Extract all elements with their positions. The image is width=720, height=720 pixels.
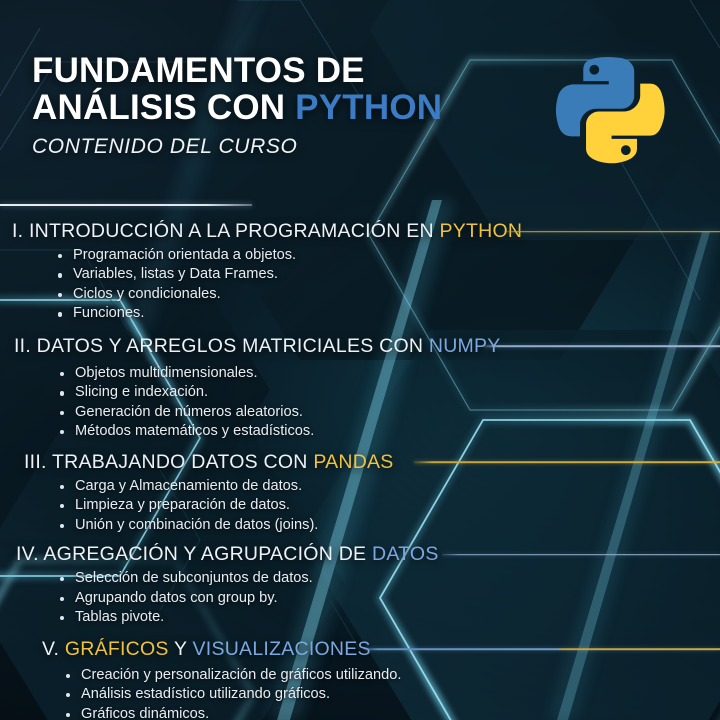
section-iii-heading: III. TRABAJANDO DATOS CON PANDAS	[24, 451, 720, 474]
section-v-numeral: V.	[42, 638, 65, 660]
section-v-heading-conjunction: Y	[169, 638, 193, 660]
section-iii-heading-text: III. TRABAJANDO DATOS CON	[24, 451, 313, 473]
section-ii-heading: II. DATOS Y ARREGLOS MATRICIALES CON NUM…	[14, 335, 720, 358]
section-iv-heading-text: IV. AGREGACIÓN Y AGRUPACIÓN DE	[16, 543, 372, 565]
section-iv-heading: IV. AGREGACIÓN Y AGRUPACIÓN DE DATOS	[16, 543, 720, 566]
section-ii: II. DATOS Y ARREGLOS MATRICIALES CON NUM…	[14, 335, 720, 442]
section-i: I. INTRODUCCIÓN A LA PROGRAMACIÓN EN PYT…	[12, 220, 720, 324]
section-v-bullets: Creación y personalización de gráficos u…	[64, 666, 720, 720]
page-title-line-1: FUNDAMENTOS DE	[32, 52, 502, 89]
section-iv: IV. AGREGACIÓN Y AGRUPACIÓN DE DATOS Sel…	[16, 543, 720, 627]
list-item: Creación y personalización de gráficos u…	[64, 666, 720, 685]
list-item: Selección de subconjuntos de datos.	[58, 569, 720, 588]
list-item: Objetos multidimensionales.	[58, 364, 720, 383]
section-ii-heading-text: II. DATOS Y ARREGLOS MATRICIALES CON	[14, 335, 429, 357]
section-v-keyword-graficos: GRÁFICOS	[65, 638, 169, 660]
page-title-line-2: ANÁLISIS CON PYTHON	[32, 89, 502, 126]
list-item: Slicing e indexación.	[58, 383, 720, 402]
section-v-rule	[364, 648, 720, 650]
section-v: V. GRÁFICOS Y VISUALIZACIONES Creación y…	[42, 638, 720, 720]
list-item: Unión y combinación de datos (joins).	[58, 516, 720, 535]
list-item: Carga y Almacenamiento de datos.	[58, 477, 720, 496]
page-title-line-2-text: ANÁLISIS CON	[32, 88, 295, 127]
poster-header: FUNDAMENTOS DE ANÁLISIS CON PYTHON CONTE…	[32, 52, 502, 159]
section-i-heading-text: I. INTRODUCCIÓN A LA PROGRAMACIÓN EN	[12, 220, 439, 242]
section-iv-rule	[442, 554, 720, 556]
list-item: Generación de números aleatorios.	[58, 403, 720, 422]
section-iii-keyword-pandas: PANDAS	[313, 451, 393, 473]
list-item: Limpieza y preparación de datos.	[58, 496, 720, 515]
section-ii-rule	[484, 346, 720, 348]
list-item: Análisis estadístico utilizando gráficos…	[64, 685, 720, 704]
list-item: Programación orientada a objetos.	[56, 246, 720, 265]
course-content: I. INTRODUCCIÓN A LA PROGRAMACIÓN EN PYT…	[0, 220, 720, 720]
list-item: Agrupando datos con group by.	[58, 589, 720, 608]
section-iii-bullets: Carga y Almacenamiento de datos. Limpiez…	[58, 477, 720, 535]
list-item: Ciclos y condicionales.	[56, 285, 720, 304]
list-item: Variables, listas y Data Frames.	[56, 265, 720, 284]
list-item: Gráficos dinámicos.	[64, 705, 720, 720]
section-i-heading: I. INTRODUCCIÓN A LA PROGRAMACIÓN EN PYT…	[12, 220, 720, 243]
section-i-rule	[504, 231, 720, 233]
python-logo	[550, 50, 668, 168]
list-item: Métodos matemáticos y estadísticos.	[58, 422, 720, 441]
section-i-bullets: Programación orientada a objetos. Variab…	[56, 246, 720, 324]
section-ii-bullets: Objetos multidimensionales. Slicing e in…	[58, 364, 720, 442]
list-item: Tablas pivote.	[58, 608, 720, 627]
page-title-accent-python: PYTHON	[295, 88, 442, 127]
section-v-keyword-visualizaciones: VISUALIZACIONES	[193, 638, 371, 660]
section-v-heading: V. GRÁFICOS Y VISUALIZACIONES	[42, 638, 720, 661]
section-iii: III. TRABAJANDO DATOS CON PANDAS Carga y…	[24, 451, 720, 535]
list-item: Funciones.	[56, 304, 720, 323]
section-iv-bullets: Selección de subconjuntos de datos. Agru…	[58, 569, 720, 627]
section-iii-rule	[414, 461, 720, 463]
section-iv-keyword-datos: DATOS	[372, 543, 439, 565]
page-subtitle: CONTENIDO DEL CURSO	[32, 135, 502, 159]
course-syllabus-poster: FUNDAMENTOS DE ANÁLISIS CON PYTHON CONTE…	[0, 0, 720, 720]
header-divider	[0, 204, 252, 206]
